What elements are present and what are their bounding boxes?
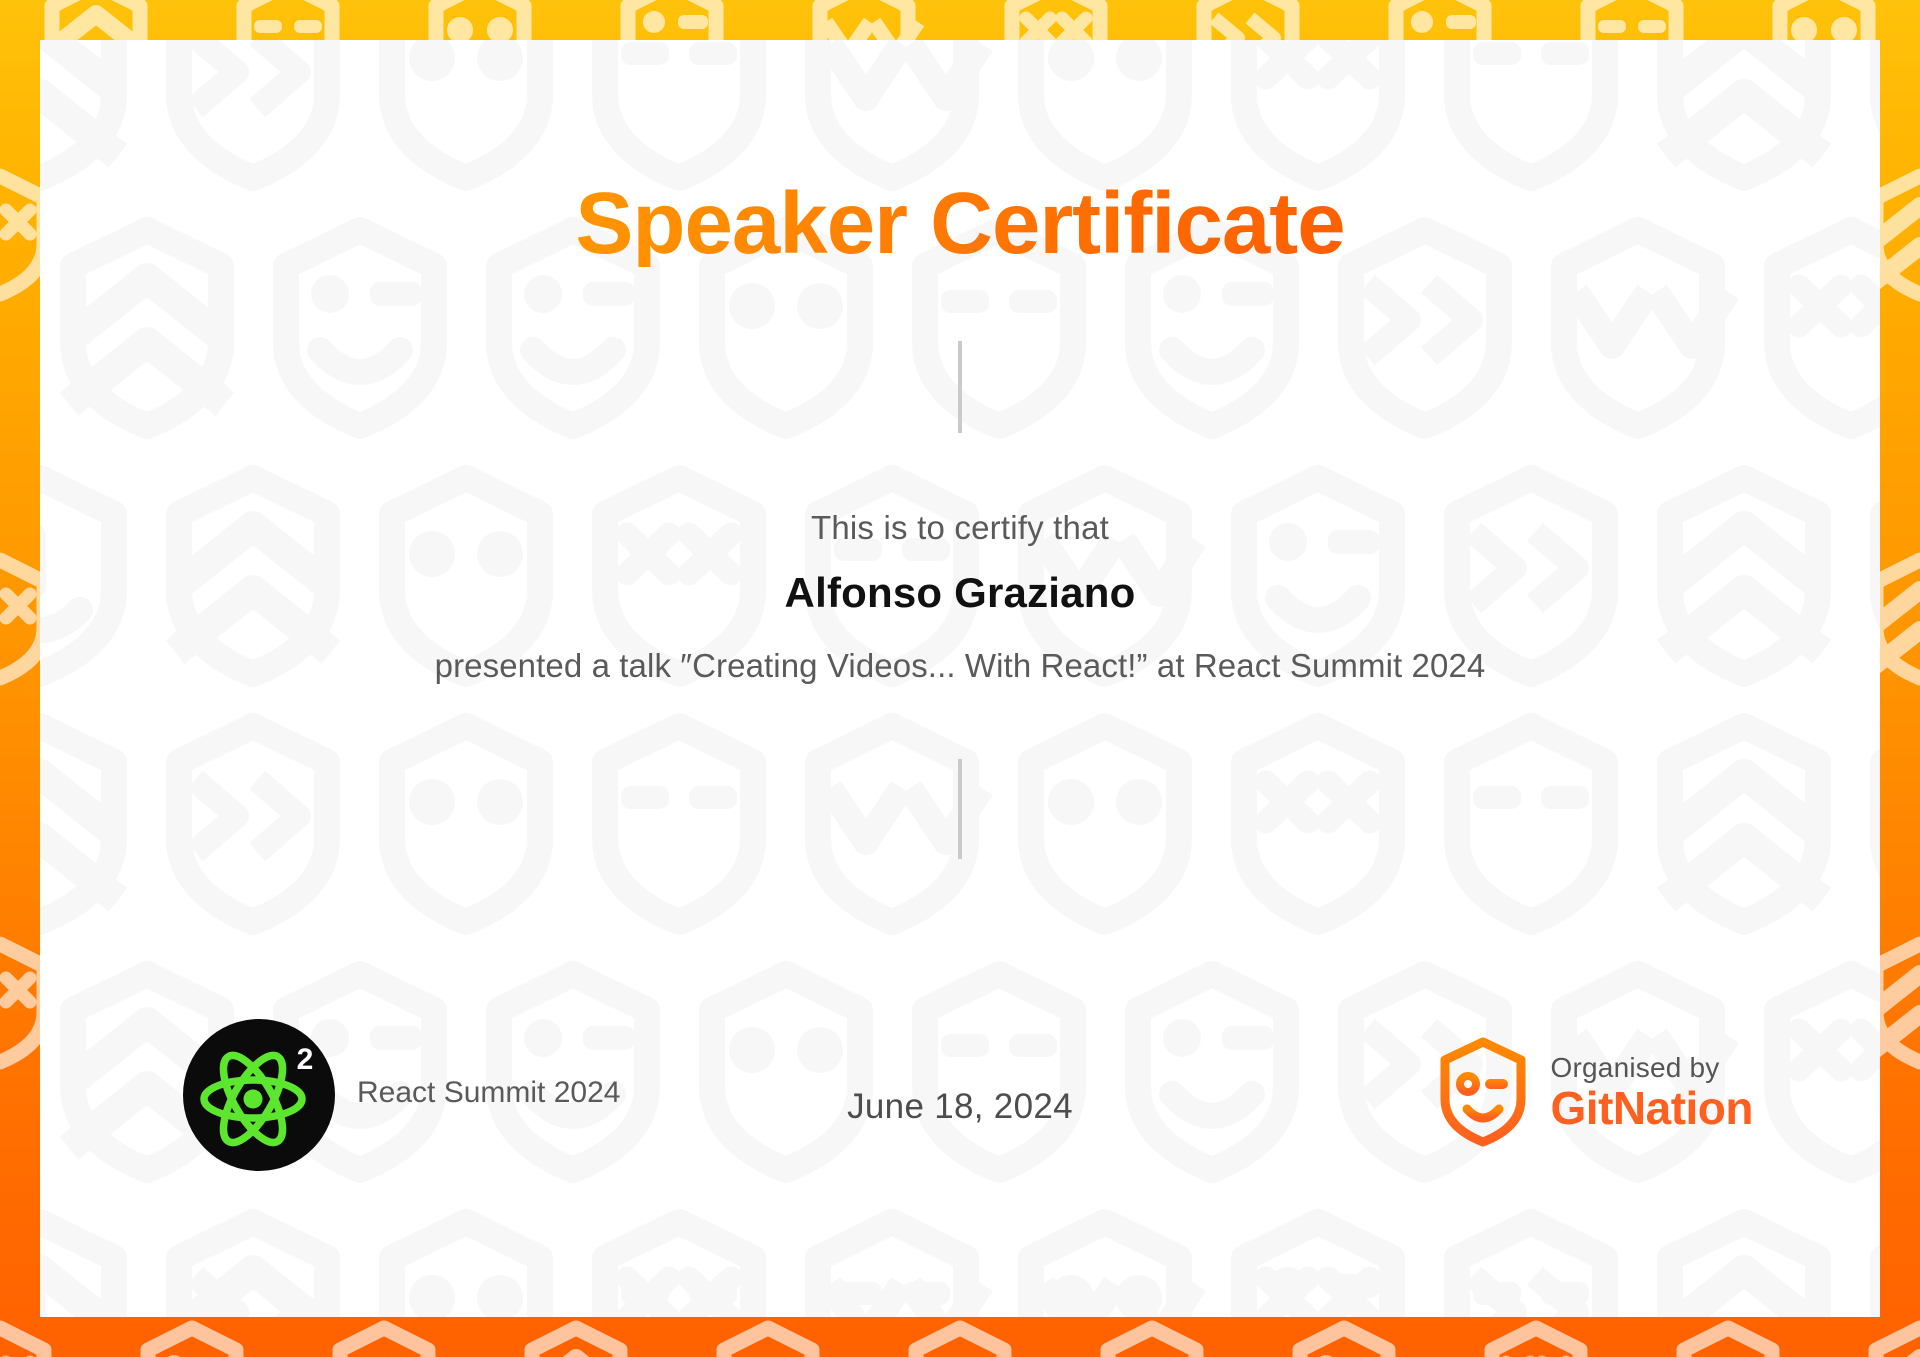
certificate-footer: 2 React Summit 2024 June 18, 2024 [40, 1021, 1880, 1171]
shield-smile [1467, 1109, 1499, 1118]
logo-superscript-badge: 2 [297, 1043, 314, 1076]
certificate-body: This is to certify that Alfonso Graziano… [435, 509, 1486, 685]
talk-description: presented a talk ″Creating Videos... Wit… [435, 647, 1486, 685]
speaker-certificate: Speaker Certificate This is to certify t… [0, 0, 1920, 1357]
gitnation-shield-wink-icon [1437, 1037, 1529, 1147]
organiser-branding: Organised by GitNation [1437, 1037, 1753, 1147]
shield-outline [1445, 1042, 1521, 1142]
organiser-name: GitNation [1551, 1084, 1753, 1132]
shield-eye-circle [1460, 1076, 1476, 1092]
shield-eye-dash [1485, 1079, 1508, 1089]
certificate-card: Speaker Certificate This is to certify t… [40, 40, 1880, 1317]
certify-line: This is to certify that [811, 509, 1109, 547]
page-title: Speaker Certificate [575, 180, 1344, 267]
organised-by-label: Organised by [1551, 1052, 1753, 1084]
divider-top [958, 341, 962, 433]
divider-bottom [958, 759, 962, 859]
recipient-name: Alfonso Graziano [785, 569, 1136, 617]
